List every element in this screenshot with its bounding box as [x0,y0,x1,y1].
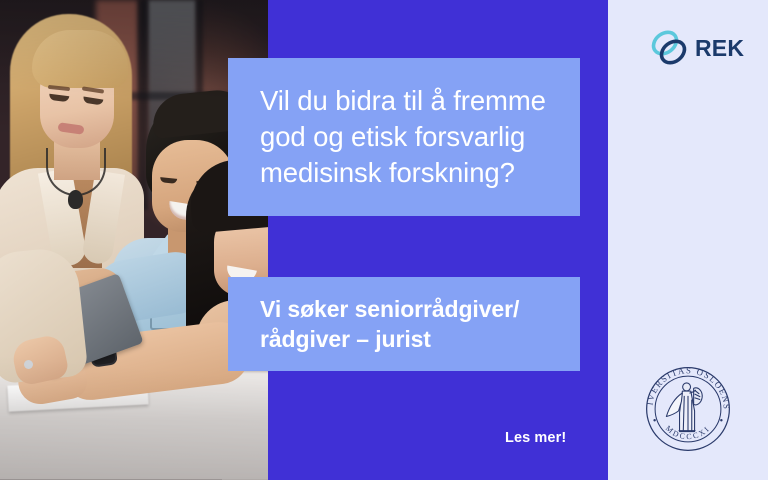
university-of-oslo-seal[interactable]: UNIVERSITAS OSLOENSIS MDCCCXI [641,362,735,456]
uio-seal-icon: UNIVERSITAS OSLOENSIS MDCCCXI [641,362,735,456]
job-title-box: Vi søker seniorrådgiver/ rådgiver – juri… [228,277,580,371]
job-title-text: Vi søker seniorrådgiver/ rådgiver – juri… [228,294,529,354]
headline-text: Vil du bidra til å fremme god og etisk f… [228,83,560,191]
rek-logo[interactable]: REK [648,26,740,70]
job-advert-banner: Vil du bidra til å fremme god og etisk f… [0,0,768,480]
read-more-link[interactable]: Les mer! [505,430,566,446]
interlocking-rings-icon [648,27,692,69]
rek-wordmark: REK [695,37,744,60]
headline-box: Vil du bidra til å fremme god og etisk f… [228,58,580,216]
